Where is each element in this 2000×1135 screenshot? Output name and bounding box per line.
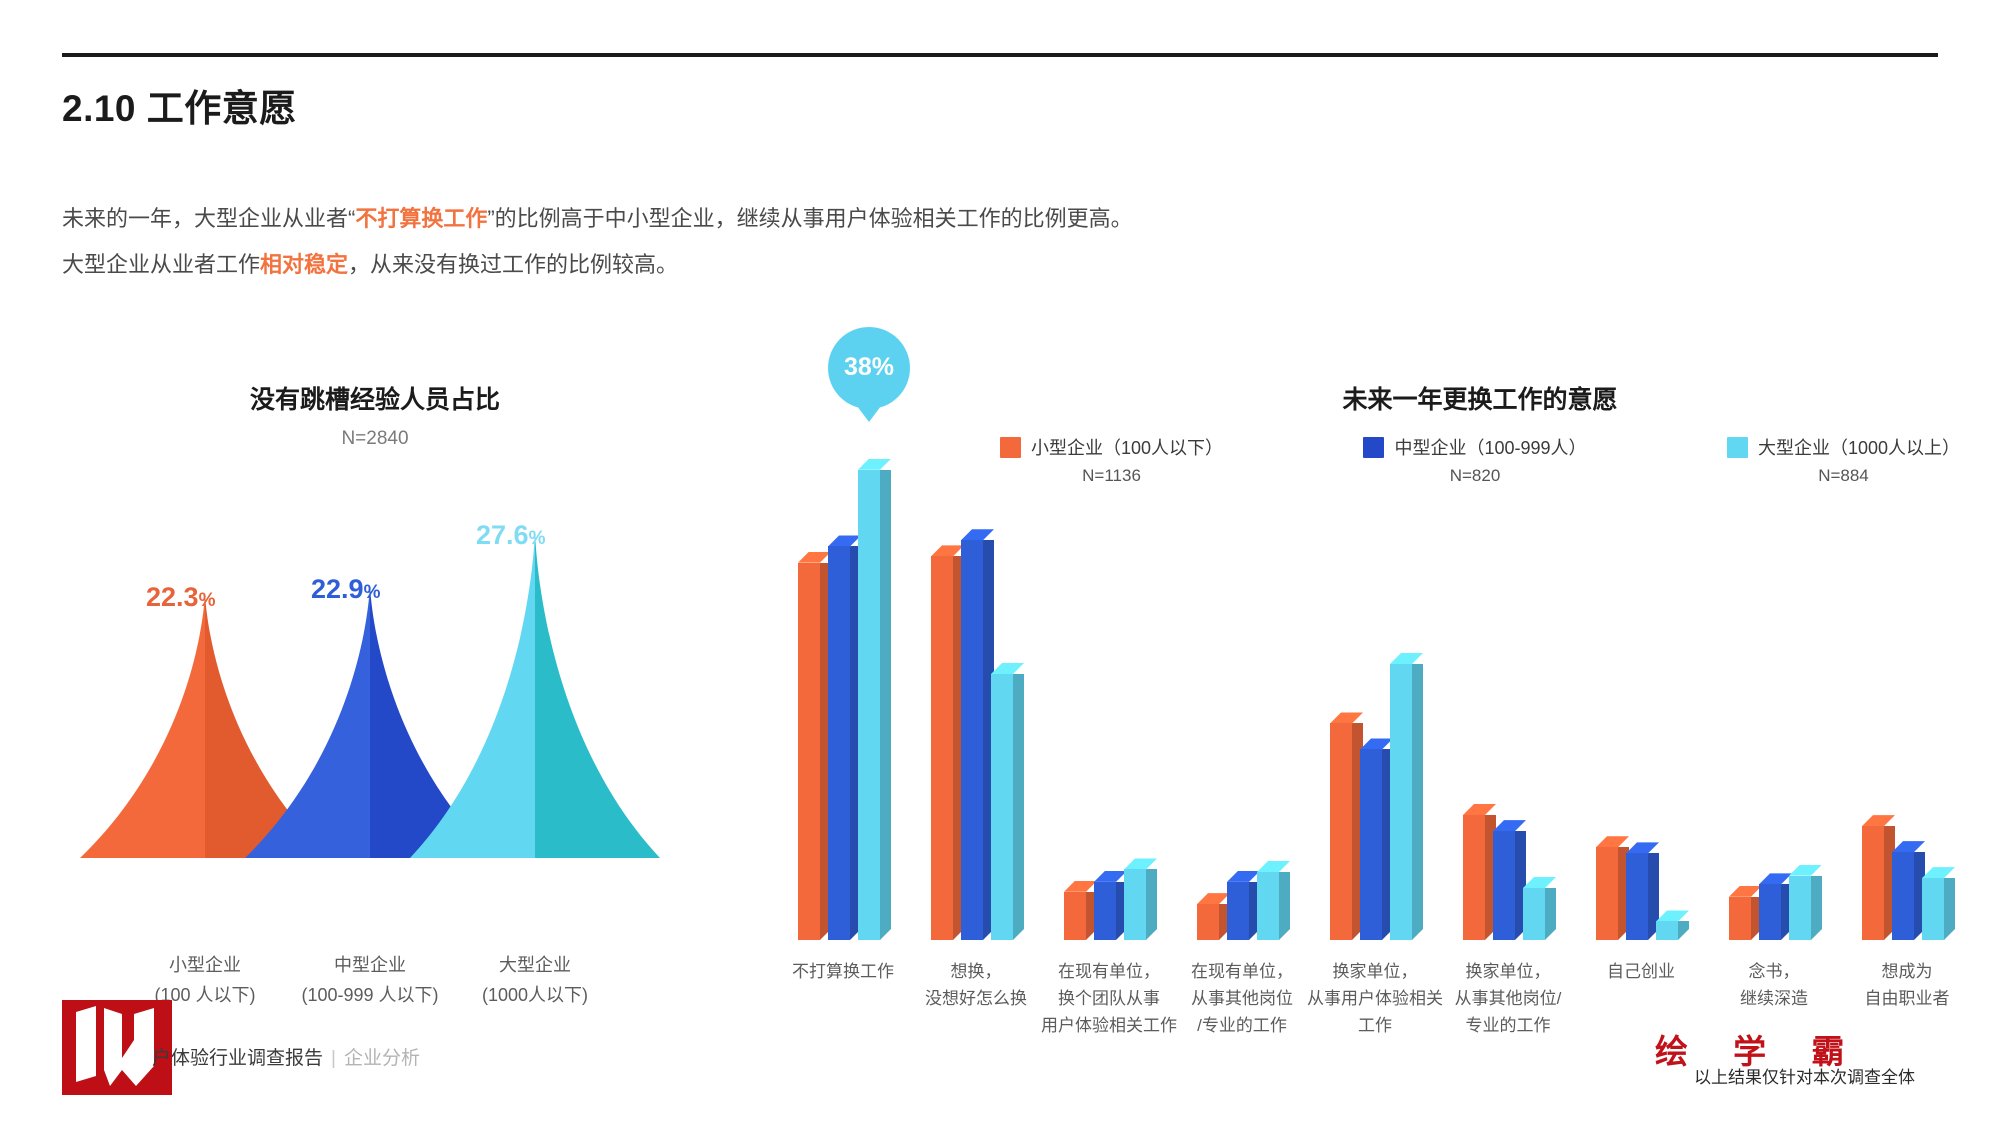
bar-group — [798, 420, 888, 940]
summary-line-1-part-b: ”的比例高于中小型企业，继续从事用户体验相关工作的比例更高。 — [487, 206, 1132, 231]
footer-breadcrumb: 户体验行业调查报告|企业分析 — [152, 1043, 420, 1070]
right-xlabel-line: 从事其他岗位/ — [1423, 985, 1593, 1012]
bar-side-face — [1146, 869, 1157, 940]
cone-large-right-face — [535, 530, 660, 858]
bar-3d[interactable] — [1493, 831, 1515, 940]
bar-front-face — [931, 556, 953, 940]
bar-3d[interactable] — [961, 540, 983, 940]
left-xlabel-large: 大型企业 (1000人以下) — [425, 950, 645, 1010]
bar-front-face — [1626, 853, 1648, 940]
left-chart-title: 没有跳槽经验人员占比 — [70, 380, 680, 416]
slide: 2.10 工作意愿 未来的一年，大型企业从业者“不打算换工作”的比例高于中小型企… — [0, 0, 2000, 1135]
summary-line-1-part-a: 未来的一年，大型企业从业者“ — [62, 206, 355, 231]
bar-front-face — [1227, 882, 1249, 940]
bar-top-face — [1523, 877, 1556, 888]
bar-3d[interactable] — [1789, 876, 1811, 940]
cone-value-small: 22.3% — [146, 582, 215, 613]
bar-top-face — [1759, 873, 1792, 884]
bar-front-face — [1759, 884, 1781, 940]
bar-3d[interactable] — [1922, 878, 1944, 940]
bar-3d[interactable] — [1626, 853, 1648, 940]
job-change-intention-chart: 未来一年更换工作的意愿 小型企业（100人以下） N=1136 中型企业（100… — [760, 380, 1960, 950]
bar-front-face — [1493, 831, 1515, 940]
bar-3d[interactable] — [931, 556, 953, 940]
summary-paragraph: 未来的一年，大型企业从业者“不打算换工作”的比例高于中小型企业，继续从事用户体验… — [62, 196, 1462, 288]
bar-front-face — [1523, 888, 1545, 940]
bar-3d[interactable] — [1390, 664, 1412, 940]
bar-top-face — [1064, 881, 1097, 892]
bar-side-face — [1944, 878, 1955, 940]
summary-line-1: 未来的一年，大型企业从业者“不打算换工作”的比例高于中小型企业，继续从事用户体验… — [62, 196, 1462, 242]
bar-3d[interactable] — [1729, 897, 1751, 940]
bar-front-face — [1596, 847, 1618, 940]
bar-3d[interactable] — [798, 563, 820, 940]
bar-top-face — [1094, 871, 1127, 882]
bar-group — [1463, 420, 1553, 940]
bar-top-face — [1227, 871, 1260, 882]
bar-3d[interactable] — [1360, 749, 1382, 940]
bar-front-face — [1892, 852, 1914, 940]
bar-top-face — [1922, 867, 1955, 878]
summary-line-2-part-b: ，从来没有换过工作的比例较高。 — [348, 252, 678, 277]
page-title: 2.10 工作意愿 — [62, 78, 297, 132]
footer-separator: | — [331, 1048, 336, 1069]
bar-front-face — [1197, 904, 1219, 940]
right-xlabel: 想成为自由职业者 — [1822, 958, 1992, 1012]
bar-side-face — [1412, 664, 1423, 940]
bar-side-face — [880, 470, 891, 940]
bar-top-face — [1493, 820, 1526, 831]
bar-top-face — [1626, 842, 1659, 853]
callout-bubble: 38% — [828, 327, 910, 409]
bar-top-face — [1330, 712, 1363, 723]
bar-top-face — [1124, 858, 1157, 869]
bar-3d[interactable] — [1064, 892, 1086, 940]
bar-3d[interactable] — [1330, 723, 1352, 940]
header-rule — [62, 53, 1938, 57]
bar-front-face — [961, 540, 983, 940]
bar-group — [1197, 420, 1287, 940]
cone-svg — [70, 500, 680, 920]
left-chart-plot: 22.3% 22.9% 27.6% — [70, 500, 680, 920]
right-xlabel-line: 自由职业者 — [1822, 985, 1992, 1012]
bar-3d[interactable] — [1596, 847, 1618, 940]
bar-front-face — [1729, 897, 1751, 940]
bar-top-face — [1257, 861, 1290, 872]
bar-3d[interactable] — [1227, 882, 1249, 940]
footer-report-name: 户体验行业调查报告 — [152, 1048, 323, 1069]
bar-front-face — [1330, 723, 1352, 940]
bar-front-face — [1124, 869, 1146, 940]
right-chart-header: 未来一年更换工作的意愿 — [1000, 380, 1960, 416]
bar-group — [1596, 420, 1686, 940]
bar-3d[interactable] — [1257, 872, 1279, 940]
bar-front-face — [1094, 882, 1116, 940]
bar-front-face — [1257, 872, 1279, 940]
bar-front-face — [991, 674, 1013, 940]
bar-3d[interactable] — [858, 470, 880, 940]
bar-top-face — [931, 545, 964, 556]
bar-top-face — [991, 663, 1024, 674]
bar-front-face — [798, 563, 820, 940]
bar-front-face — [1463, 815, 1485, 940]
footer-note: 以上结果仅针对本次调查全体 — [1694, 1063, 1915, 1088]
bar-side-face — [1013, 674, 1024, 940]
right-xlabel-line: 想成为 — [1822, 958, 1992, 985]
bar-3d[interactable] — [1094, 882, 1116, 940]
bar-side-face — [1811, 876, 1822, 940]
bar-group — [1330, 420, 1420, 940]
bar-side-face — [1545, 888, 1556, 940]
bar-3d[interactable] — [1523, 888, 1545, 940]
bar-group — [1862, 420, 1952, 940]
summary-line-2-highlight: 相对稳定 — [260, 252, 348, 277]
bar-side-face — [1678, 921, 1689, 940]
bar-front-face — [1360, 749, 1382, 940]
bar-3d[interactable] — [1759, 884, 1781, 940]
bar-top-face — [1862, 815, 1895, 826]
bar-top-face — [1656, 910, 1689, 921]
bar-top-face — [1892, 841, 1925, 852]
bar-group — [931, 420, 1021, 940]
cone-value-medium: 22.9% — [311, 574, 380, 605]
bar-group — [1064, 420, 1154, 940]
bar-front-face — [1390, 664, 1412, 940]
right-xlabel-line: 专业的工作 — [1423, 1012, 1593, 1039]
no-job-change-chart: 没有跳槽经验人员占比 N=2840 22.3% 22.9% 27.6% — [70, 380, 680, 940]
summary-line-2: 大型企业从业者工作相对稳定，从来没有换过工作的比例较高。 — [62, 242, 1462, 288]
bar-top-face — [1729, 886, 1762, 897]
bar-top-face — [858, 459, 891, 470]
cone-value-large: 27.6% — [476, 520, 545, 551]
bar-front-face — [828, 546, 850, 940]
bar-top-face — [1596, 836, 1629, 847]
bar-front-face — [858, 470, 880, 940]
right-chart-plot — [760, 420, 1960, 940]
bar-3d[interactable] — [1124, 869, 1146, 940]
left-chart-sample-size: N=2840 — [70, 428, 680, 450]
cone-small-left-face — [80, 592, 205, 858]
bar-top-face — [1360, 738, 1393, 749]
bar-top-face — [798, 552, 831, 563]
bar-3d[interactable] — [1892, 852, 1914, 940]
bar-top-face — [828, 535, 861, 546]
bar-front-face — [1064, 892, 1086, 940]
bar-3d[interactable] — [991, 674, 1013, 940]
footer-section-name: 企业分析 — [344, 1048, 420, 1069]
callout-bubble-value: 38% — [844, 353, 894, 382]
bar-3d[interactable] — [828, 546, 850, 940]
bar-3d[interactable] — [1862, 826, 1884, 940]
bar-front-face — [1789, 876, 1811, 940]
bar-front-face — [1862, 826, 1884, 940]
right-chart-title: 未来一年更换工作的意愿 — [1000, 380, 1960, 416]
summary-line-2-part-a: 大型企业从业者工作 — [62, 252, 260, 277]
bar-3d[interactable] — [1656, 921, 1678, 940]
bar-3d[interactable] — [1197, 904, 1219, 940]
left-chart-x-axis: 小型企业 (100 人以下) 中型企业 (100-999 人以下) 大型企业 (… — [70, 950, 750, 1040]
bar-side-face — [1279, 872, 1290, 940]
summary-line-1-highlight: 不打算换工作 — [355, 206, 487, 231]
bar-top-face — [1789, 865, 1822, 876]
bar-top-face — [1390, 653, 1423, 664]
bar-group — [1729, 420, 1819, 940]
bar-front-face — [1922, 878, 1944, 940]
bar-3d[interactable] — [1463, 815, 1485, 940]
bar-top-face — [1197, 893, 1230, 904]
bar-top-face — [1463, 804, 1496, 815]
bar-front-face — [1656, 921, 1678, 940]
bar-top-face — [961, 529, 994, 540]
